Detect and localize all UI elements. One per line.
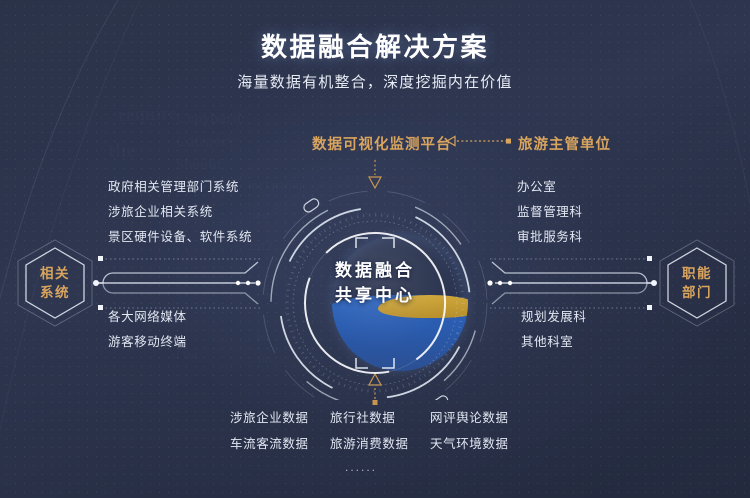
data-cell: 天气环境数据 [430, 431, 530, 457]
label-visualization-platform: 数据可视化监测平台 [312, 133, 452, 154]
table-row: 车流客流数据旅游消费数据天气环境数据 [230, 431, 530, 457]
hex-right-line1: 职能 [682, 264, 712, 283]
data-cell: 旅行社数据 [330, 405, 430, 431]
list-item: 景区硬件设备、软件系统 [108, 225, 252, 250]
list-item: 其他科室 [521, 330, 587, 355]
list-left-bottom: 各大网络媒体游客移动终端 [108, 305, 187, 355]
list-item: 规划发展科 [521, 305, 587, 330]
page-subtitle: 海量数据有机整合，深度挖掘内在价值 [0, 71, 750, 92]
dotted-left-arrow-icon [444, 133, 514, 149]
infographic-canvas: requireCopybard:Category:Should:theint'l… [0, 0, 750, 498]
hex-right-line2: 部门 [682, 283, 712, 302]
data-cell: 网评舆论数据 [430, 405, 530, 431]
list-item: 各大网络媒体 [108, 305, 187, 330]
watermark-text: the [108, 138, 136, 163]
list-item: 涉旅企业相关系统 [108, 200, 252, 225]
list-item: 办公室 [517, 175, 583, 200]
watermark-text: require [118, 103, 178, 127]
hex-left-line2: 系统 [40, 283, 70, 302]
list-item: 审批服务科 [517, 225, 583, 250]
watermark-text: Category: [176, 134, 240, 151]
hexagon-related-systems[interactable]: 相关 系统 [12, 236, 98, 330]
list-right-top: 办公室监督管理科审批服务科 [517, 175, 583, 250]
ring-decorations [250, 160, 500, 400]
list-right-bottom: 规划发展科其他科室 [521, 305, 587, 355]
table-row: 涉旅企业数据旅行社数据网评舆论数据 [230, 405, 530, 431]
data-cell: 涉旅企业数据 [230, 405, 330, 431]
list-item: 游客移动终端 [108, 330, 187, 355]
label-tourism-authority: 旅游主管单位 [518, 133, 611, 154]
hex-left-line1: 相关 [40, 264, 70, 283]
data-cell: 车流客流数据 [230, 431, 330, 457]
list-left-top: 政府相关管理部门系统涉旅企业相关系统景区硬件设备、软件系统 [108, 175, 252, 250]
list-item: 监督管理科 [517, 200, 583, 225]
watermark-text: Should: [176, 157, 226, 174]
data-cell: 旅游消费数据 [330, 431, 430, 457]
list-item: 政府相关管理部门系统 [108, 175, 252, 200]
hexagon-left-text: 相关 系统 [12, 236, 98, 330]
hexagon-right-text: 职能 部门 [654, 236, 740, 330]
data-fusion-hub[interactable]: 数据融合 共享中心 [250, 160, 500, 400]
ellipsis-label: ...... [230, 460, 530, 474]
bottom-data-grid: 涉旅企业数据旅行社数据网评舆论数据车流客流数据旅游消费数据天气环境数据 ....… [230, 405, 530, 474]
watermark-text: Copybard: [176, 111, 246, 128]
hexagon-functional-departments[interactable]: 职能 部门 [654, 236, 740, 330]
page-title: 数据融合解决方案 [0, 27, 750, 64]
